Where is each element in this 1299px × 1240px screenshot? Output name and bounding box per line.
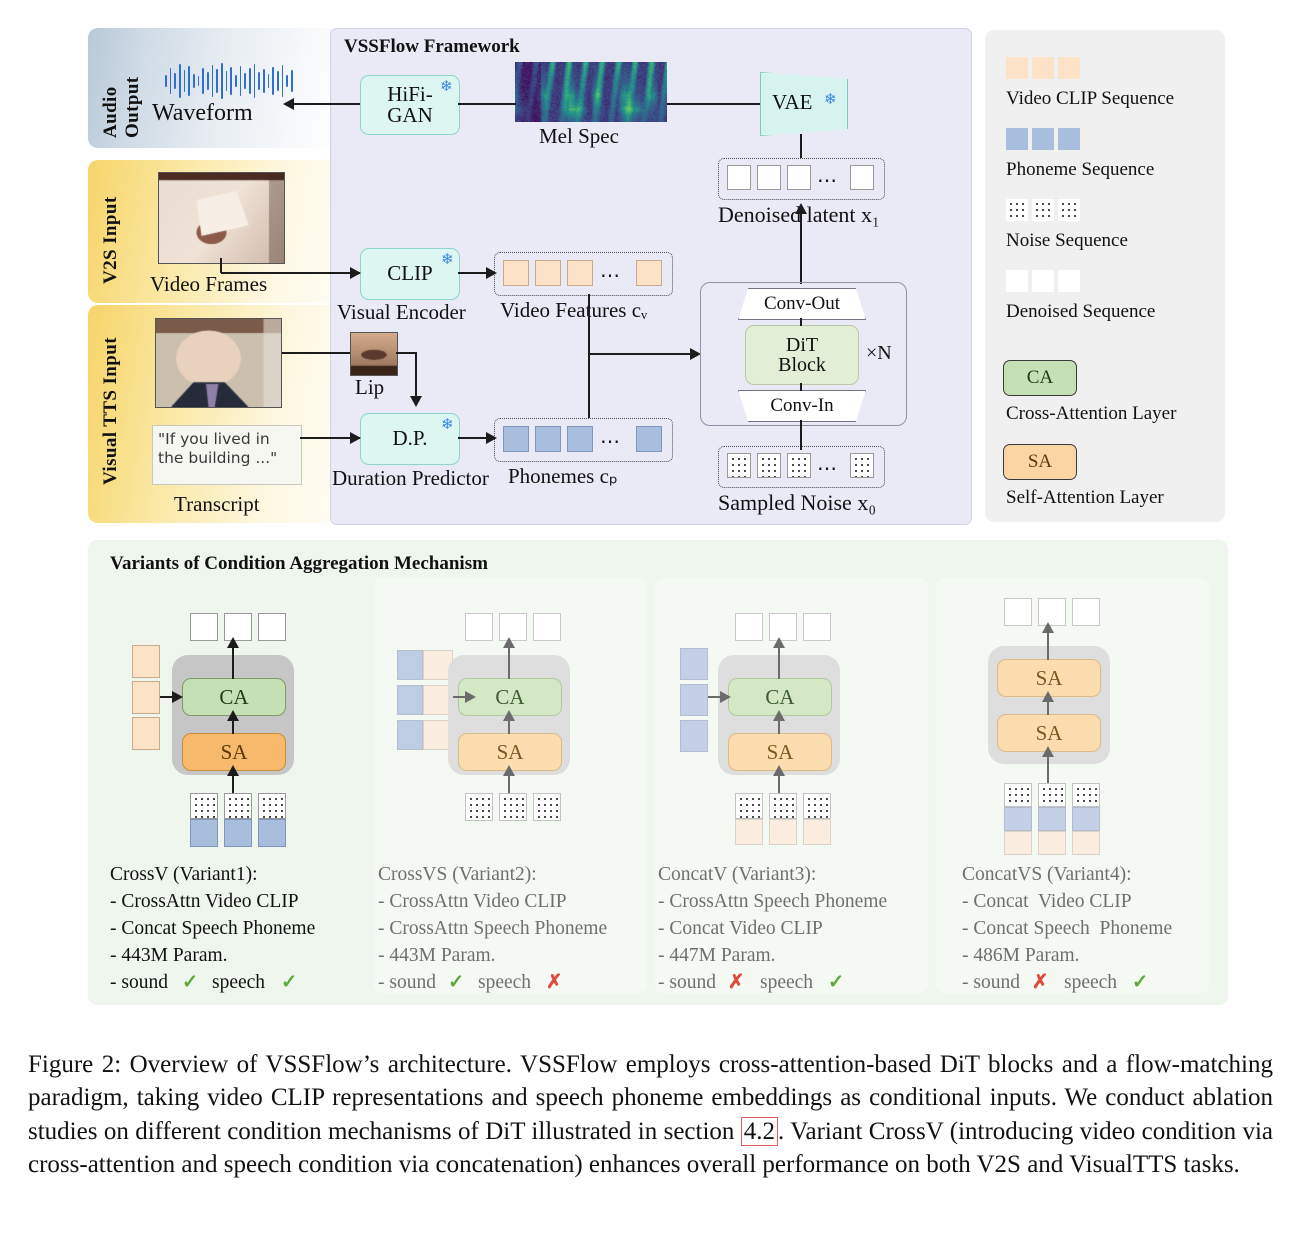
arrow-head	[795, 203, 807, 214]
variant-2-sound-mark: ✓	[448, 970, 464, 995]
variant-2-line-3: - 443M Param.	[378, 943, 496, 968]
video-clip-token	[769, 819, 797, 845]
phoneme-token	[567, 426, 593, 452]
noise-token	[1072, 783, 1100, 807]
video-clip-token	[535, 260, 561, 286]
connector	[800, 383, 802, 391]
variant-1-speech-mark: ✓	[281, 970, 297, 995]
legend-swatch-denoised	[1058, 270, 1080, 292]
legend-swatch-noise	[1006, 199, 1028, 221]
output-token	[1004, 598, 1032, 626]
variant-4-sound-label: - sound	[962, 970, 1020, 995]
ellipsis: ⋯	[817, 456, 839, 481]
video-clip-token	[1072, 831, 1100, 855]
legend-label-denoised: Denoised Sequence	[1006, 301, 1155, 323]
dit-block[interactable]: DiT Block	[745, 325, 859, 385]
output-token	[1072, 598, 1100, 626]
phoneme-token	[535, 426, 561, 452]
video-clip-token	[803, 819, 831, 845]
section-reference[interactable]: 4.2	[741, 1117, 778, 1146]
video-clip-token	[1038, 831, 1066, 855]
video-clip-token	[132, 645, 160, 678]
sa-text: SA	[767, 740, 794, 765]
legend-swatch-noise	[1058, 199, 1080, 221]
noise-token	[224, 793, 252, 819]
noise-token	[727, 453, 751, 478]
conv-out-block[interactable]: Conv-Out	[738, 288, 866, 320]
hifigan-label: HiFi- GAN	[387, 84, 433, 127]
video-clip-token	[503, 260, 529, 286]
variant-1-speech-label: speech	[212, 970, 265, 995]
video-clip-token	[735, 819, 763, 845]
video-frames-thumbnail	[158, 172, 285, 264]
phoneme-token	[680, 684, 708, 716]
arrow-head	[773, 710, 785, 721]
arrow-head	[503, 710, 515, 721]
conv-out-label: Conv-Out	[764, 293, 840, 315]
legend-label-noise: Noise Sequence	[1006, 230, 1128, 252]
phoneme-token	[680, 720, 708, 752]
waveform-graphic	[165, 62, 293, 100]
arrow-head	[503, 765, 515, 776]
noise-token	[1038, 783, 1066, 807]
noise-token	[757, 453, 781, 478]
legend-ca-text: CA	[1027, 367, 1053, 389]
noise-token	[258, 793, 286, 819]
denoised-token	[757, 165, 781, 190]
legend-swatch-video-clip	[1058, 57, 1080, 79]
arrow-head	[350, 267, 361, 279]
connector	[396, 352, 416, 354]
phoneme-token	[636, 426, 662, 452]
variant-1-line-1: - CrossAttn Video CLIP	[110, 889, 299, 914]
video-clip-token	[1004, 831, 1032, 855]
connector	[800, 318, 802, 326]
legend-swatch-noise	[1032, 199, 1054, 221]
variant-1-sound-mark: ✓	[182, 970, 198, 995]
conv-in-block[interactable]: Conv-In	[738, 390, 866, 422]
sa-text: SA	[1036, 721, 1063, 746]
phoneme-token	[397, 685, 423, 715]
connector	[800, 420, 802, 450]
phoneme-token	[397, 720, 423, 750]
ca-text: CA	[219, 685, 248, 710]
connector	[588, 353, 698, 355]
noise-token	[1004, 783, 1032, 807]
video-features-caption: Video Features cᵥ	[500, 298, 647, 323]
noise-token	[735, 793, 763, 819]
connector	[800, 134, 802, 158]
speaker-frames-thumbnail	[155, 318, 282, 408]
sa-text: SA	[497, 740, 524, 765]
video-clip-token	[132, 717, 160, 750]
arrow-head	[227, 765, 239, 776]
arrow-head	[350, 432, 361, 444]
output-token	[258, 613, 286, 641]
connector	[221, 272, 360, 274]
noise-token	[787, 453, 811, 478]
phonemes-caption: Phonemes cₚ	[508, 464, 618, 489]
snowflake-icon: ❄	[440, 80, 453, 95]
video-frames-caption: Video Frames	[150, 272, 267, 297]
phoneme-token	[258, 819, 286, 847]
dp-label: D.P.	[392, 428, 427, 449]
legend-swatch-phoneme	[1006, 128, 1028, 150]
arrow-head	[1042, 691, 1054, 702]
arrow-head	[283, 98, 294, 110]
variant-4-line-1: - Concat Video CLIP	[962, 889, 1132, 914]
ca-text: CA	[765, 685, 794, 710]
connector	[667, 103, 762, 105]
visual-tts-input-label: Visual TTS Input	[100, 320, 122, 485]
video-clip-token	[636, 260, 662, 286]
variant-3-speech-label: speech	[760, 970, 813, 995]
arrow-head	[1042, 746, 1054, 757]
snowflake-icon: ❄	[441, 418, 454, 433]
ellipsis: ⋯	[817, 168, 839, 193]
v2s-input-label: V2S Input	[100, 172, 122, 284]
legend-swatch-phoneme	[1058, 128, 1080, 150]
variant-2-speech-mark: ✗	[546, 970, 562, 995]
arrow-head	[1042, 622, 1054, 633]
variant-4-speech-mark: ✓	[1132, 970, 1148, 995]
denoised-token	[727, 165, 751, 190]
variant-3-speech-mark: ✓	[828, 970, 844, 995]
variant-4-line-3: - 486M Param.	[962, 943, 1080, 968]
variant-3-line-2: - Concat Video CLIP	[658, 916, 823, 941]
arrow-head	[486, 432, 497, 444]
noise-token	[499, 793, 527, 821]
arrow-head	[773, 765, 785, 776]
phoneme-token	[1072, 807, 1100, 831]
phoneme-token	[503, 426, 529, 452]
arrow-head	[503, 637, 515, 648]
variant-4-title: ConcatVS (Variant4):	[962, 862, 1132, 887]
transcript-caption: Transcript	[174, 492, 260, 517]
legend-label-phoneme: Phoneme Sequence	[1006, 159, 1154, 181]
denoised-token	[850, 165, 874, 190]
legend-swatch-video-clip	[1032, 57, 1054, 79]
snowflake-icon: ❄	[824, 93, 837, 108]
ellipsis: ⋯	[600, 429, 622, 454]
sampled-noise-caption: Sampled Noise x₀	[718, 490, 876, 516]
clip-label: CLIP	[387, 263, 433, 284]
variant-2-sound-label: - sound	[378, 970, 436, 995]
legend-label-cross-attention: Cross-Attention Layer	[1006, 403, 1176, 425]
legend-swatch-denoised	[1032, 270, 1054, 292]
variant-4-speech-label: speech	[1064, 970, 1117, 995]
variant-3-title: ConcatV (Variant3):	[658, 862, 816, 887]
variant-2-title: CrossVS (Variant2):	[378, 862, 537, 887]
variant-2-speech-label: speech	[478, 970, 531, 995]
variant-1-line-2: - Concat Speech Phoneme	[110, 916, 315, 941]
connector	[292, 103, 360, 105]
noise-token	[190, 793, 218, 819]
variant-3-line-3: - 447M Param.	[658, 943, 776, 968]
legend-swatch-video-clip	[1006, 57, 1028, 79]
connector	[588, 294, 590, 354]
variant-2-line-1: - CrossAttn Video CLIP	[378, 889, 567, 914]
noise-token	[803, 793, 831, 819]
connector	[415, 352, 417, 398]
output-token	[533, 613, 561, 641]
sa-text: SA	[1036, 666, 1063, 691]
output-token	[803, 613, 831, 641]
mel-spectrogram-image	[515, 62, 667, 122]
legend-label-video-clip: Video CLIP Sequence	[1006, 88, 1174, 110]
video-clip-token	[132, 681, 160, 714]
vae-label: VAE	[772, 90, 812, 115]
sa-text: SA	[221, 740, 248, 765]
arrow-head	[465, 691, 476, 703]
figure-caption: Figure 2: Overview of VSSFlow’s architec…	[28, 1048, 1273, 1181]
connector	[220, 258, 222, 273]
arrow-head	[172, 691, 183, 703]
lip-caption: Lip	[355, 375, 384, 400]
legend-swatch-denoised	[1006, 270, 1028, 292]
legend-pill-cross-attention: CA	[1003, 360, 1077, 396]
output-token	[465, 613, 493, 641]
phoneme-token	[224, 819, 252, 847]
noise-token	[850, 453, 874, 478]
variant-4-line-2: - Concat Speech Phoneme	[962, 916, 1172, 941]
variant-2-line-2: - CrossAttn Speech Phoneme	[378, 916, 607, 941]
framework-title: VSSFlow Framework	[344, 36, 520, 58]
variant-3-line-1: - CrossAttn Speech Phoneme	[658, 889, 887, 914]
variant-3-sound-mark: ✗	[728, 970, 744, 995]
dit-block-label: DiT Block	[778, 335, 826, 376]
noise-token	[465, 793, 493, 821]
arrow-head	[227, 637, 239, 648]
phoneme-token	[680, 648, 708, 680]
transcript-text: "If you lived in the building ..."	[158, 430, 298, 469]
ellipsis: ⋯	[600, 263, 622, 288]
audio-output-label: Audio Output	[100, 40, 144, 138]
legend-label-self-attention: Self-Attention Layer	[1006, 487, 1164, 509]
legend-pill-self-attention: SA	[1003, 444, 1077, 480]
arrow-head	[227, 710, 239, 721]
arrow-head	[720, 691, 731, 703]
arrow-head	[773, 637, 785, 648]
variant-1-sound-label: - sound	[110, 970, 168, 995]
mel-spec-caption: Mel Spec	[539, 124, 619, 149]
arrow-head	[486, 267, 497, 279]
variants-title: Variants of Condition Aggregation Mechan…	[110, 553, 488, 575]
connector	[588, 354, 590, 418]
variant-4-sound-mark: ✗	[1032, 970, 1048, 995]
noise-token	[769, 793, 797, 819]
duration-predictor-caption: Duration Predictor	[332, 466, 489, 491]
phoneme-token	[1038, 807, 1066, 831]
connector	[282, 352, 350, 354]
lip-thumbnail	[350, 332, 398, 376]
phoneme-token	[1004, 807, 1032, 831]
noise-token	[533, 793, 561, 821]
variant-1-line-3: - 443M Param.	[110, 943, 228, 968]
snowflake-icon: ❄	[441, 253, 454, 268]
output-token	[735, 613, 763, 641]
xn-label: ×N	[866, 342, 892, 365]
video-clip-token	[567, 260, 593, 286]
connector	[458, 103, 516, 105]
output-token	[190, 613, 218, 641]
arrow-head	[410, 396, 422, 407]
visual-encoder-caption: Visual Encoder	[337, 300, 466, 325]
denoised-token	[787, 165, 811, 190]
legend-sa-text: SA	[1028, 451, 1052, 473]
legend-swatch-phoneme	[1032, 128, 1054, 150]
phoneme-token	[190, 819, 218, 847]
ca-text: CA	[495, 685, 524, 710]
variant-1-title: CrossV (Variant1):	[110, 862, 258, 887]
connector	[800, 212, 802, 284]
waveform-caption: Waveform	[152, 100, 253, 127]
conv-in-label: Conv-In	[770, 395, 833, 417]
variant-3-sound-label: - sound	[658, 970, 716, 995]
phoneme-token	[397, 650, 423, 680]
